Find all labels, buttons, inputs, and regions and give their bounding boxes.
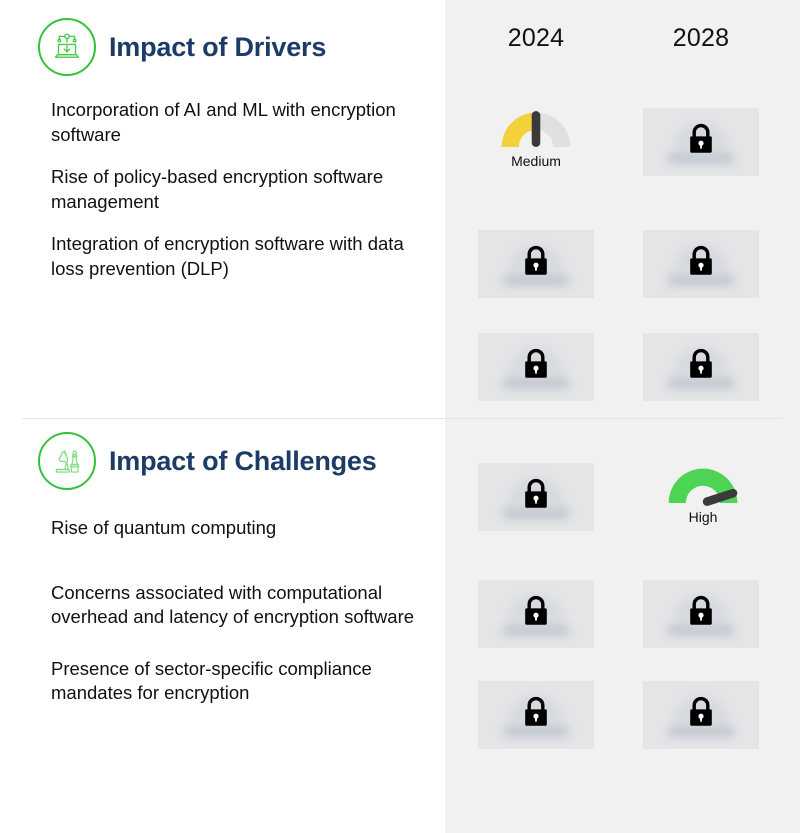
gauge-drivers-2024: Medium (478, 106, 594, 174)
driver-item-1: Incorporation of AI and ML with encrypti… (51, 98, 425, 147)
locked-cell-challenges-2-2028[interactable] (643, 580, 759, 648)
challenges-item-list: Rise of quantum computing Concerns assoc… (0, 516, 445, 706)
padlock-icon (686, 695, 716, 734)
locked-cell-drivers-1-2028[interactable] (643, 108, 759, 176)
padlock-icon (686, 244, 716, 283)
padlock-icon (686, 122, 716, 161)
locked-cell-drivers-2-2028[interactable] (643, 230, 759, 298)
gauge-label-medium: Medium (511, 153, 561, 169)
locked-cell-challenges-1-2024[interactable] (478, 463, 594, 531)
gauge-label-high: High (689, 509, 718, 525)
locked-cell-drivers-2-2024[interactable] (478, 230, 594, 298)
driver-item-2: Rise of policy-based encryption software… (51, 165, 425, 214)
challenge-item-1: Rise of quantum computing (51, 516, 425, 541)
locked-cell-drivers-3-2028[interactable] (643, 333, 759, 401)
locked-cell-challenges-3-2028[interactable] (643, 681, 759, 749)
column-header-2024: 2024 (471, 24, 601, 53)
impact-matrix: 2024 2028 Impact of Drivers (0, 0, 800, 833)
column-header-2028: 2028 (636, 24, 766, 53)
padlock-icon (521, 594, 551, 633)
padlock-icon (686, 347, 716, 386)
chess-pieces-icon (38, 432, 96, 490)
locked-cell-challenges-2-2024[interactable] (478, 580, 594, 648)
padlock-icon (686, 594, 716, 633)
gauge-challenges-2028: High (645, 462, 761, 530)
section-divider (22, 418, 782, 419)
drivers-item-list: Incorporation of AI and ML with encrypti… (0, 98, 445, 282)
challenge-item-2: Concerns associated with computational o… (51, 581, 425, 630)
challenges-header: Impact of Challenges (0, 432, 445, 490)
ai-laptop-icon (38, 18, 96, 76)
padlock-icon (521, 347, 551, 386)
locked-cell-drivers-3-2024[interactable] (478, 333, 594, 401)
challenge-item-3: Presence of sector-specific compliance m… (51, 657, 425, 706)
drivers-title: Impact of Drivers (109, 32, 326, 63)
locked-cell-challenges-3-2024[interactable] (478, 681, 594, 749)
padlock-icon (521, 244, 551, 283)
challenges-title: Impact of Challenges (109, 446, 377, 477)
drivers-header: Impact of Drivers (0, 18, 445, 76)
section-drivers: Impact of Drivers Incorporation of AI an… (0, 18, 445, 300)
gauge-arc-medium (497, 106, 575, 152)
gauge-arc-high (664, 462, 742, 508)
section-challenges: Impact of Challenges Rise of quantum com… (0, 432, 445, 733)
driver-item-3: Integration of encryption software with … (51, 232, 425, 281)
padlock-icon (521, 695, 551, 734)
padlock-icon (521, 477, 551, 516)
